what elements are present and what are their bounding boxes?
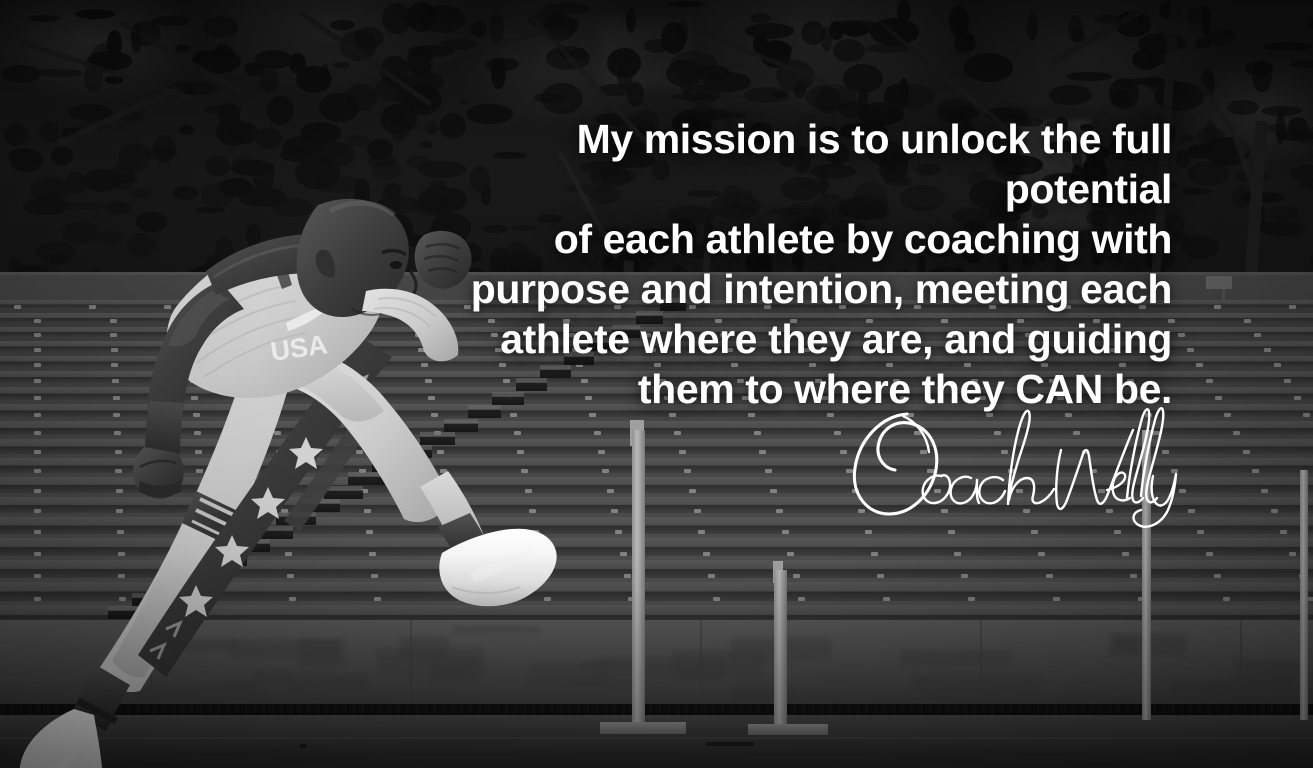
mission-banner: PODS [0, 0, 1313, 768]
mission-quote-text: My mission is to unlock the full potenti… [420, 114, 1172, 414]
signature-word-welly [1056, 408, 1176, 526]
coach-signature [845, 392, 1175, 532]
signature-word-coach [854, 411, 1054, 514]
wall-fixture-box [1206, 276, 1232, 289]
